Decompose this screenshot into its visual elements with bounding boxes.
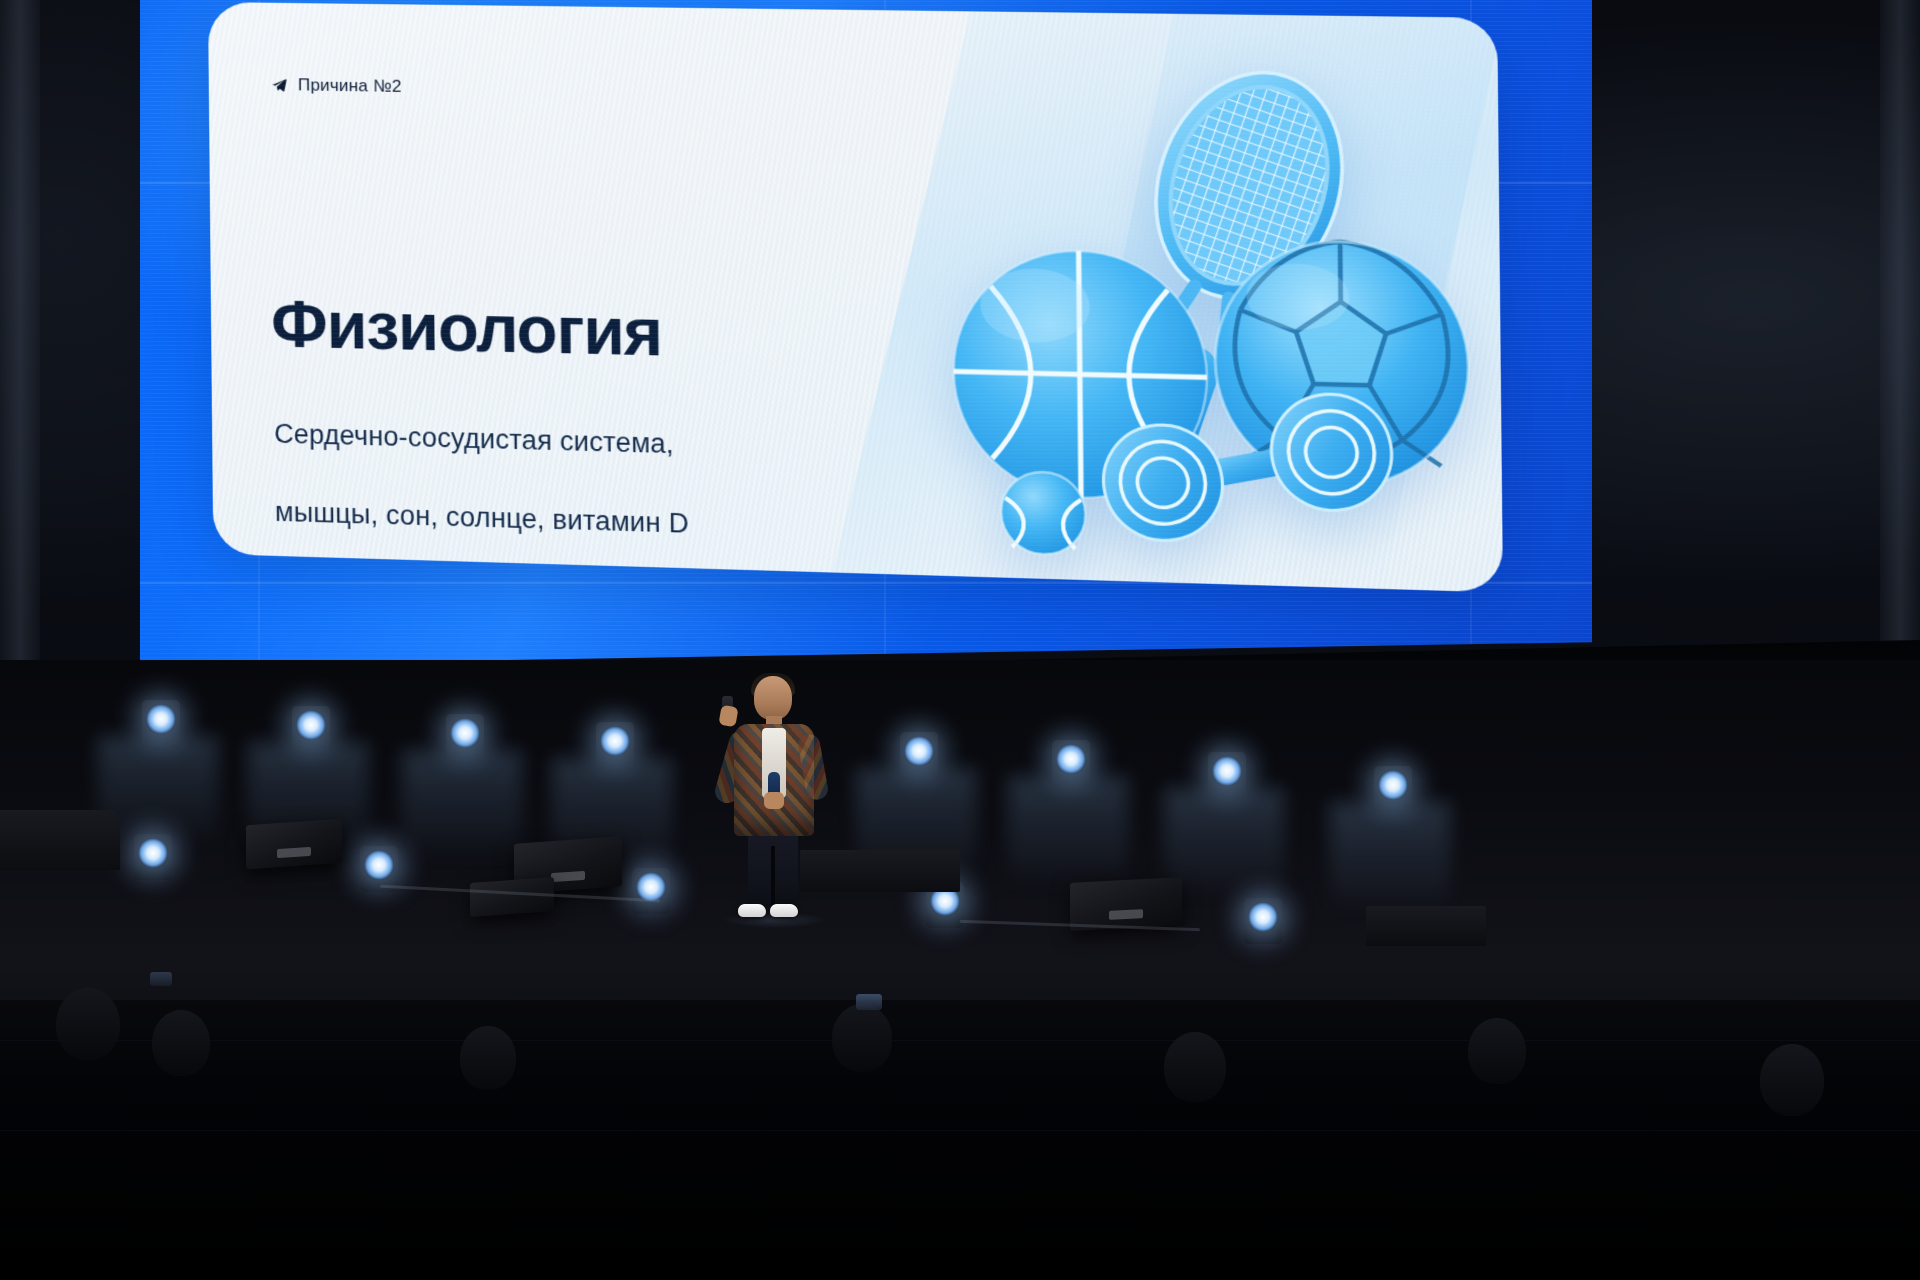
audience-head [460,1026,516,1090]
stage-riser-right [1366,906,1486,946]
stage-riser-far-left [0,810,120,870]
stage-monitor-4 [1070,877,1182,931]
slide-body: Сердечно-сосудистая система, мышцы, сон,… [274,376,691,593]
slide-eyebrow: Причина №2 [271,75,402,97]
presenter-shoe-right [770,904,798,917]
audience-phone-screen [150,972,172,986]
hall-pillar-left [0,0,40,700]
slide-body-line-1: Сердечно-сосудистая система, [274,419,674,460]
audience-head [56,988,120,1060]
sports-equipment-illustration [923,48,1481,576]
audience-head [1164,1032,1226,1102]
slide-eyebrow-label: Причина №2 [298,75,402,97]
slide-body-line-2: мышцы, сон, солнце, витамин D [275,497,689,539]
seat-row-line-1 [0,1040,1920,1041]
audience-head [1760,1044,1824,1116]
hall-pillar-right [1880,0,1920,700]
stage-scene: Причина №2 Физиология Сердечно-сосудиста… [0,0,1920,1280]
presenter-shoe-left [738,904,766,917]
presenter [718,676,828,876]
stage-monitor-1 [246,819,342,870]
monitor-badge [1109,909,1143,920]
audience-head [1468,1018,1526,1084]
slide-card: Причина №2 Физиология Сердечно-сосудиста… [208,2,1503,593]
monitor-badge [277,847,311,858]
monitor-badge [551,871,585,882]
telegram-plane-icon [271,76,288,93]
presenter-leg-gap [771,846,775,906]
audience-head [152,1010,210,1076]
presenter-hand-holding-mic [764,792,784,809]
audience-phone-screen [856,994,882,1010]
slide-headline: Физиология [271,285,662,370]
audience-head [832,1004,892,1072]
seat-row-line-2 [0,1130,1920,1131]
stage-monitor-3 [470,877,554,917]
presenter-head [754,676,792,720]
slide-body-line-3: Отсутствие спорта и отдыха — [275,548,689,593]
audience-foreground [0,1000,1920,1280]
tennis-ball-icon [1001,471,1086,555]
presenter-raised-hand [718,705,738,728]
led-presentation-screen: Причина №2 Физиология Сердечно-сосудиста… [140,0,1592,666]
